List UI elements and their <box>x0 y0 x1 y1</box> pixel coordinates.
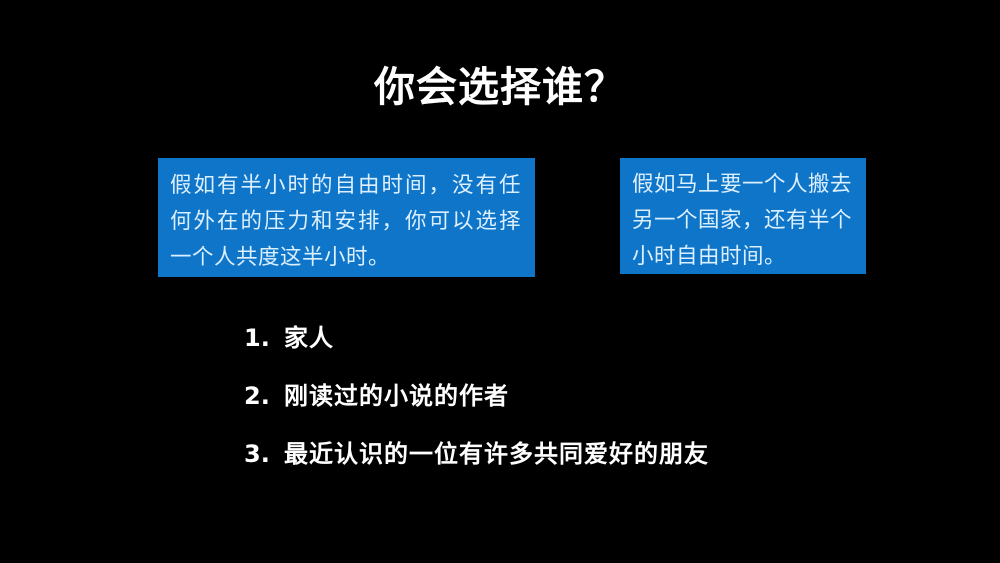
list-item: 2. 刚读过的小说的作者 <box>244 376 944 434</box>
list-item-number: 2. <box>244 382 284 410</box>
callout-left-text: 假如有半小时的自由时间，没有任何外在的压力和安排，你可以选择一个人共度这半小时。 <box>170 168 521 276</box>
callout-right-text: 假如马上要一个人搬去另一个国家，还有半个小时自由时间。 <box>632 167 856 275</box>
list-item-label: 最近认识的一位有许多共同爱好的朋友 <box>284 434 944 469</box>
list-item-number: 1. <box>244 324 284 352</box>
options-list: 1. 家人 2. 刚读过的小说的作者 3. 最近认识的一位有许多共同爱好的朋友 <box>244 318 944 492</box>
list-item: 1. 家人 <box>244 318 944 376</box>
list-item-label: 刚读过的小说的作者 <box>284 376 944 411</box>
list-item-label: 家人 <box>284 318 944 353</box>
list-item: 3. 最近认识的一位有许多共同爱好的朋友 <box>244 434 944 492</box>
page-title: 你会选择谁？ <box>0 62 1000 112</box>
slide-canvas: 你会选择谁？ 假如有半小时的自由时间，没有任何外在的压力和安排，你可以选择一个人… <box>0 0 1000 563</box>
callout-scenario-right: 假如马上要一个人搬去另一个国家，还有半个小时自由时间。 <box>620 158 866 274</box>
list-item-number: 3. <box>244 440 284 468</box>
callout-scenario-left: 假如有半小时的自由时间，没有任何外在的压力和安排，你可以选择一个人共度这半小时。 <box>158 158 535 277</box>
